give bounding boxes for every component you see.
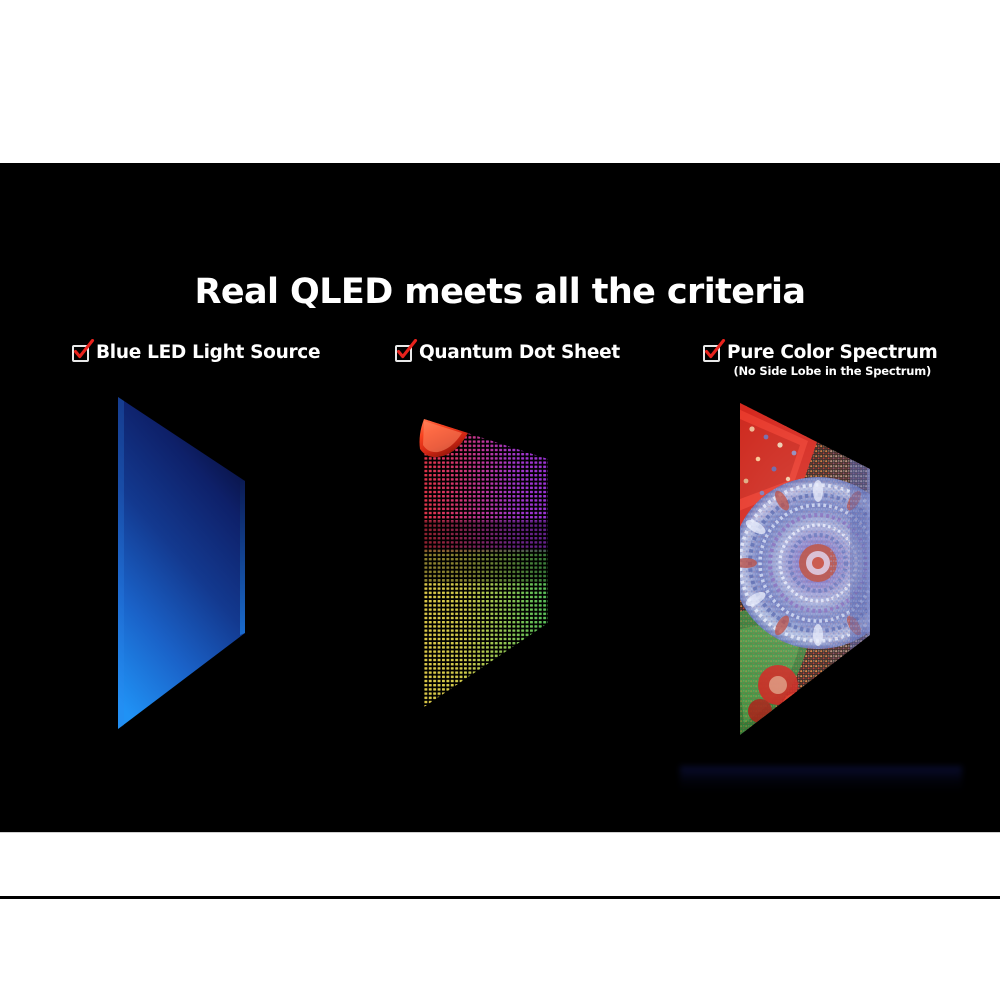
checkbox-checked-icon <box>72 345 89 362</box>
page-title: Real QLED meets all the criteria <box>0 272 1000 312</box>
criterion-pure-color-spectrum: Pure Color Spectrum (No Side Lobe in the… <box>703 342 938 379</box>
red-check-mark-icon <box>394 339 420 365</box>
criterion-label: Blue LED Light Source <box>96 342 320 363</box>
criterion-label: Quantum Dot Sheet <box>419 342 620 363</box>
blue-led-panel <box>90 385 290 745</box>
quantum-dot-sheet-panel <box>398 411 583 711</box>
criterion-sublabel: (No Side Lobe in the Spectrum) <box>727 364 938 379</box>
criterion-label: Pure Color Spectrum <box>727 342 938 363</box>
hero-bottom-divider <box>0 832 1000 833</box>
criterion-quantum-dot-sheet: Quantum Dot Sheet <box>395 342 620 364</box>
red-check-mark-icon <box>71 339 97 365</box>
pure-color-spectrum-panel <box>700 385 932 745</box>
checkbox-checked-icon <box>395 345 412 362</box>
red-check-mark-icon <box>702 339 728 365</box>
criterion-blue-led-light-source: Blue LED Light Source <box>72 342 320 364</box>
hero-banner: Real QLED meets all the criteria Blue LE… <box>0 163 1000 833</box>
page-root: Real QLED meets all the criteria Blue LE… <box>0 0 1000 1000</box>
checkbox-checked-icon <box>703 345 720 362</box>
page-bottom-rule <box>0 896 1000 899</box>
panel-reflection <box>680 766 962 792</box>
